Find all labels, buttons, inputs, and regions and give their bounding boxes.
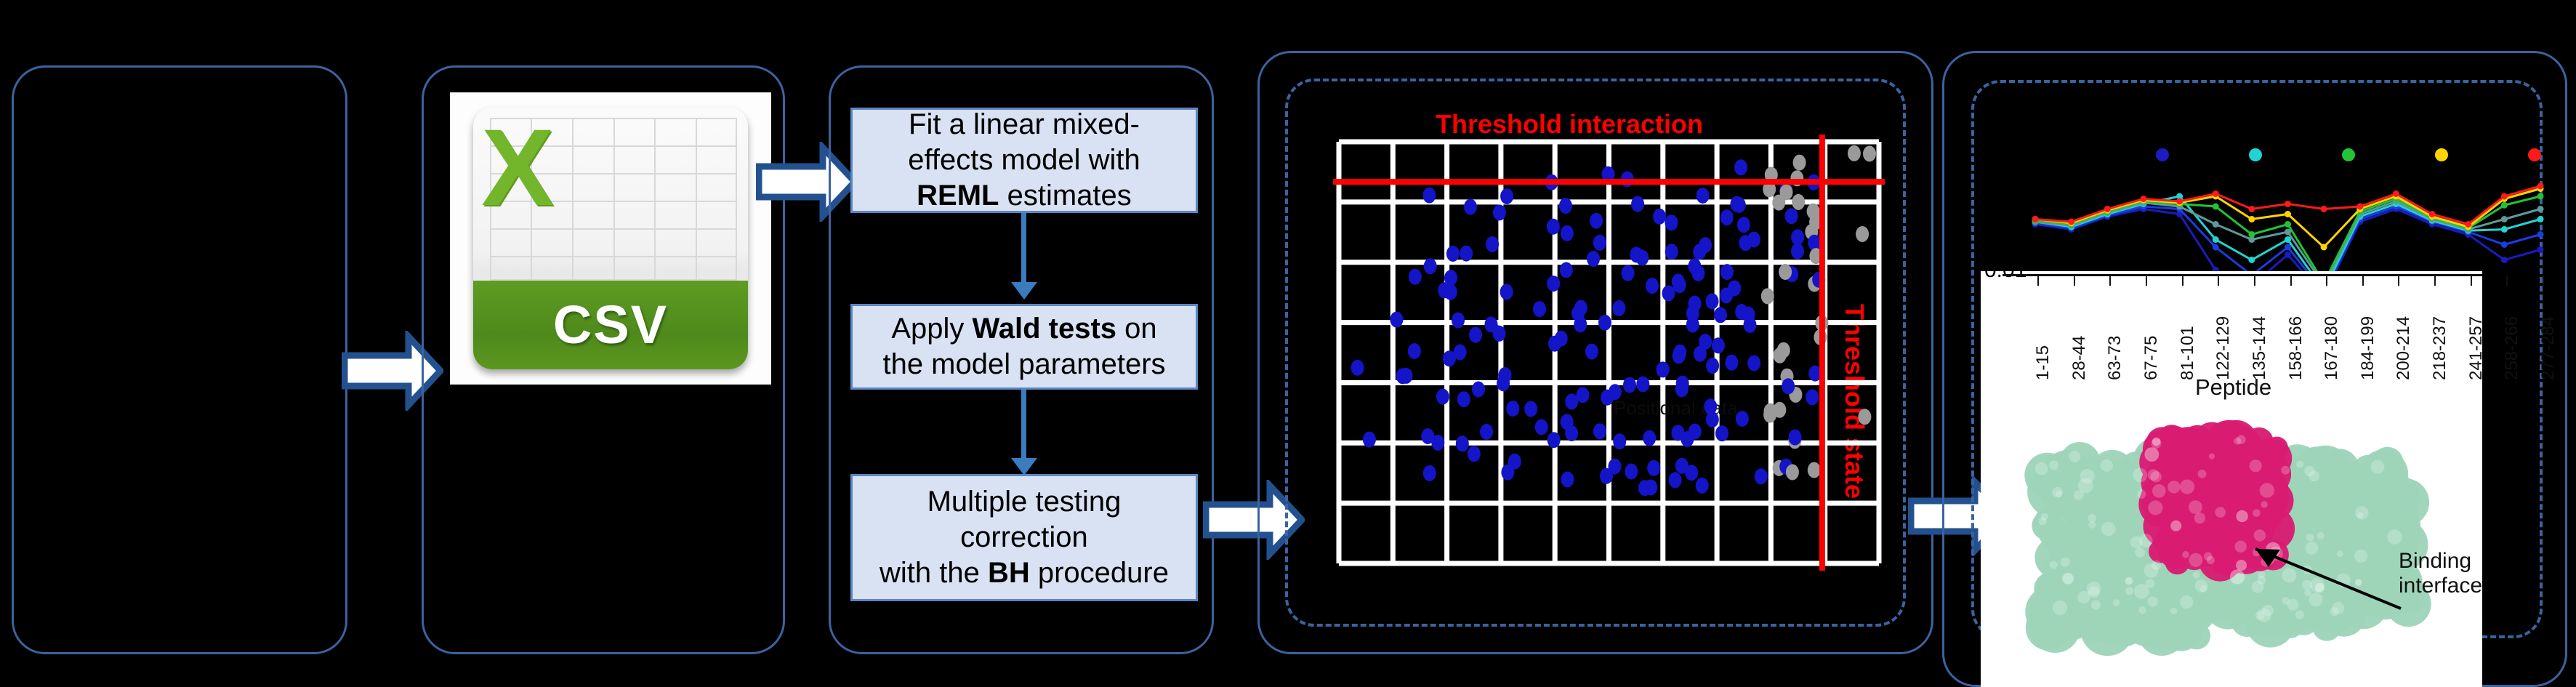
wald-tests-box: Apply Wald tests onthe model parameters	[850, 304, 1198, 390]
peptide-tick-mark	[2074, 276, 2075, 286]
peptide-tick-label: 1-15	[2033, 345, 2053, 380]
csv-tile: X CSV	[473, 108, 748, 369]
binding-interface-line1: Binding	[2399, 549, 2482, 574]
peptide-tick-mark	[2506, 276, 2508, 286]
peptide-tick-label: 277-284	[2538, 316, 2559, 380]
connector-wald-to-bh	[1021, 390, 1026, 462]
peptide-tick-label: 81-101	[2178, 326, 2198, 380]
scatter-canvas: Positional data	[1301, 109, 1890, 589]
peptide-tick-label: 258-266	[2502, 316, 2522, 380]
peptide-tick-label: 28-44	[2069, 336, 2090, 380]
peptide-tick-label: 122-129	[2213, 316, 2234, 380]
peptide-tick-mark	[2037, 276, 2039, 286]
csv-file-icon: X CSV	[451, 93, 770, 384]
peptide-tick-label: 158-166	[2286, 316, 2306, 380]
peptide-tick-mark	[2543, 276, 2544, 286]
csv-format-label: CSV	[553, 294, 668, 355]
connector-arrowhead-1	[1011, 282, 1037, 300]
multiple-testing-text: Multiple testingcorrectionwith the BH pr…	[880, 484, 1169, 590]
peptide-tick-label: 135-144	[2250, 316, 2270, 380]
excel-x-glyph: X	[481, 113, 597, 249]
peptide-tick-label: 200-214	[2394, 316, 2414, 380]
peptide-tick-label: 67-75	[2141, 336, 2162, 380]
peptide-tick-label: 167-180	[2322, 316, 2342, 380]
peptide-tick-mark	[2362, 276, 2364, 286]
peptide-axis-labels: 1-1528-4463-7367-7581-101122-129135-1441…	[1981, 271, 2482, 387]
wald-tests-text: Apply Wald tests onthe model parameters	[882, 311, 1165, 382]
fit-model-text: Fit a linear mixed-effects model with RE…	[908, 107, 1140, 213]
peptide-tick-mark	[2254, 276, 2255, 286]
peptide-tick-mark	[2218, 276, 2219, 286]
peptide-tick-mark	[2326, 276, 2327, 286]
protein-structure-image	[2003, 411, 2453, 658]
peptide-axis-line	[2003, 274, 2482, 276]
binding-interface-line2: interface	[2399, 574, 2482, 598]
peptide-tick-mark	[2398, 276, 2399, 286]
peptide-tick-label: 184-199	[2358, 316, 2378, 380]
panel-input-stage	[12, 65, 347, 654]
multiple-testing-box: Multiple testingcorrectionwith the BH pr…	[850, 474, 1198, 601]
csv-format-band: CSV	[473, 281, 748, 369]
peptide-tick-mark	[2109, 276, 2111, 286]
connector-arrowhead-2	[1011, 458, 1037, 475]
peptide-tick-mark	[2471, 276, 2472, 286]
peptide-tick-label: 218-237	[2430, 316, 2450, 380]
peptide-tick-label: 63-73	[2105, 336, 2125, 380]
svg-text:Positional data: Positional data	[1614, 397, 1738, 419]
peptide-tick-mark	[2182, 276, 2183, 286]
connector-fit-to-wald	[1021, 213, 1026, 286]
peptide-tick-label: 241-257	[2466, 316, 2487, 380]
fit-model-box: Fit a linear mixed-effects model with RE…	[850, 108, 1198, 213]
peptide-tick-mark	[2146, 276, 2147, 286]
peptide-tick-mark	[2290, 276, 2292, 286]
peptide-axis-title: Peptide	[2195, 374, 2271, 401]
binding-interface-label: Binding interface	[2399, 549, 2482, 598]
peptide-tick-mark	[2434, 276, 2436, 286]
scatter-plot: Threshold interaction Threshold state Po…	[1301, 109, 1890, 589]
